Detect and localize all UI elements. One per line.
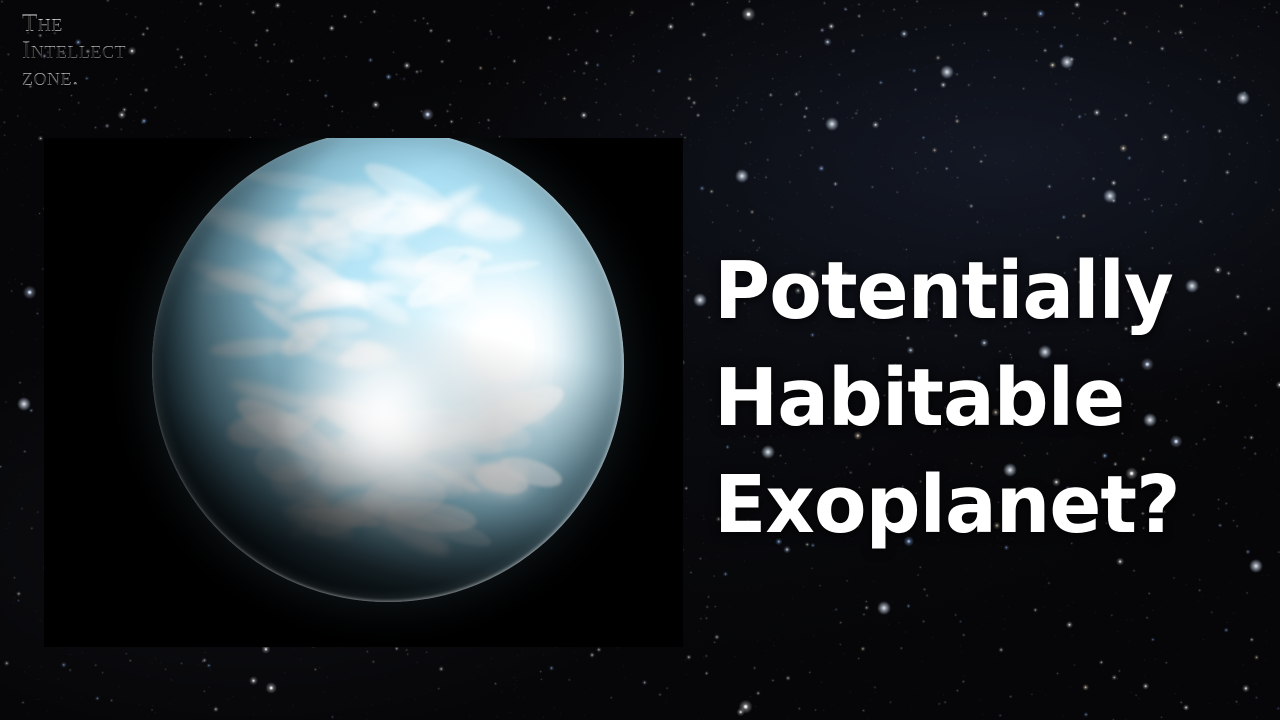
planet-sphere	[152, 138, 624, 602]
brand-logo-line-1: The	[22, 10, 126, 37]
title-line-3: Exoplanet?	[714, 452, 1199, 559]
exoplanet-image-panel	[44, 138, 683, 647]
title-line-1: Potentially	[714, 238, 1199, 345]
title-line-2: Habitable	[714, 345, 1199, 452]
brand-logo-line-2: Intellect	[22, 37, 126, 64]
thumbnail-canvas: The Intellect zone. Potentially Habitabl…	[0, 0, 1280, 720]
brand-logo-line-3: zone.	[22, 64, 126, 91]
brand-logo: The Intellect zone.	[22, 10, 126, 91]
planet-atmosphere-rim	[152, 138, 624, 602]
thumbnail-title: Potentially Habitable Exoplanet?	[714, 238, 1214, 559]
planet-container	[44, 138, 683, 647]
